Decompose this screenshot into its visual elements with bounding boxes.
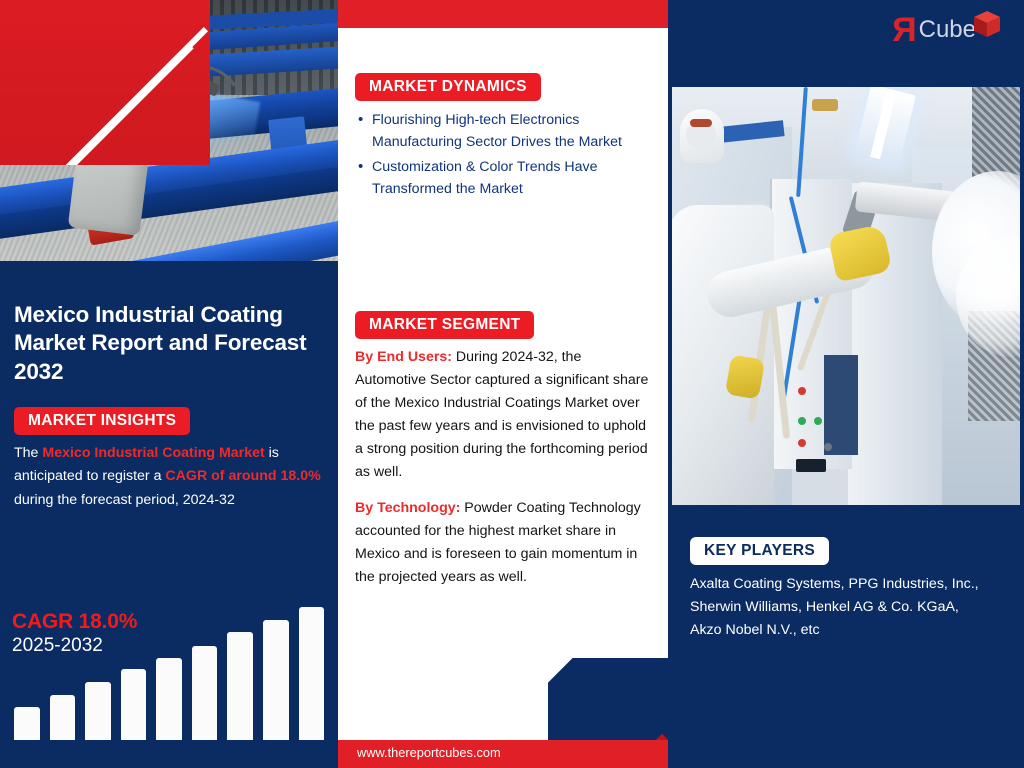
market-dynamics-badge-label: MARKET DYNAMICS — [355, 73, 541, 101]
segment-paragraph: By Technology: Powder Coating Technology… — [355, 497, 655, 589]
segment-label: By Technology: — [355, 500, 460, 516]
market-insights-badge: MARKET INSIGHTS — [14, 407, 190, 435]
logo-mirrored-r: R — [892, 13, 917, 47]
market-dynamics-list: Flourishing High-tech Electronics Manufa… — [355, 109, 655, 203]
market-insights-text: The Mexico Industrial Coating Market is … — [14, 442, 324, 512]
chart-bar — [50, 695, 76, 740]
segment-paragraph: By End Users: During 2024-32, the Automo… — [355, 346, 655, 484]
chart-bar — [85, 682, 111, 740]
insights-highlight-cagr: CAGR of around 18.0% — [165, 468, 320, 484]
cagr-bar-chart: CAGR 18.0% 2025-2032 — [0, 580, 338, 768]
segment-label: By End Users: — [355, 349, 452, 365]
chart-bar — [121, 669, 147, 740]
market-dynamics-badge: MARKET DYNAMICS — [355, 73, 541, 101]
market-segment-body: By End Users: During 2024-32, the Automo… — [355, 346, 655, 602]
chart-bar — [156, 658, 182, 740]
key-players-text: Axalta Coating Systems, PPG Industries, … — [690, 573, 986, 642]
top-red-bar — [338, 0, 668, 28]
dynamics-bullet-list: Flourishing High-tech Electronics Manufa… — [355, 109, 655, 200]
left-column: Mexico Industrial Coating Market Report … — [0, 0, 338, 768]
market-segment-badge: MARKET SEGMENT — [355, 311, 534, 339]
footer-bar: www.thereportcubes.com — [338, 740, 668, 768]
footer-url[interactable]: www.thereportcubes.com — [357, 745, 501, 760]
dynamics-list-item: Flourishing High-tech Electronics Manufa… — [355, 109, 655, 153]
chart-bar — [192, 646, 218, 740]
chart-bar — [227, 632, 253, 740]
insights-part3: during the forecast period, 2024-32 — [14, 492, 235, 508]
infographic-page: Mexico Industrial Coating Market Report … — [0, 0, 1024, 768]
insights-part1: The — [14, 445, 42, 461]
chart-bars — [14, 600, 324, 740]
brand-logo[interactable]: R Cube — [892, 9, 1002, 51]
right-photo-powder-coating — [672, 87, 1020, 505]
page-title: Mexico Industrial Coating Market Report … — [14, 301, 330, 386]
segment-text: During 2024-32, the Automotive Sector ca… — [355, 349, 648, 480]
chart-bar — [14, 707, 40, 740]
logo-wordmark: Cube — [919, 18, 976, 42]
chart-bar — [263, 620, 289, 740]
cube-icon — [972, 9, 1002, 39]
chart-bar — [299, 607, 325, 740]
key-players-badge-label: KEY PLAYERS — [690, 537, 829, 565]
middle-column: MARKET DYNAMICS Flourishing High-tech El… — [338, 0, 668, 768]
right-column: R Cube — [668, 0, 1024, 768]
market-segment-badge-label: MARKET SEGMENT — [355, 311, 534, 339]
left-photo-industrial-coating — [0, 0, 338, 261]
key-players-badge: KEY PLAYERS — [690, 537, 829, 565]
dynamics-list-item: Customization & Color Trends Have Transf… — [355, 156, 655, 200]
market-insights-badge-label: MARKET INSIGHTS — [14, 407, 190, 435]
insights-highlight-market: Mexico Industrial Coating Market — [42, 445, 264, 461]
